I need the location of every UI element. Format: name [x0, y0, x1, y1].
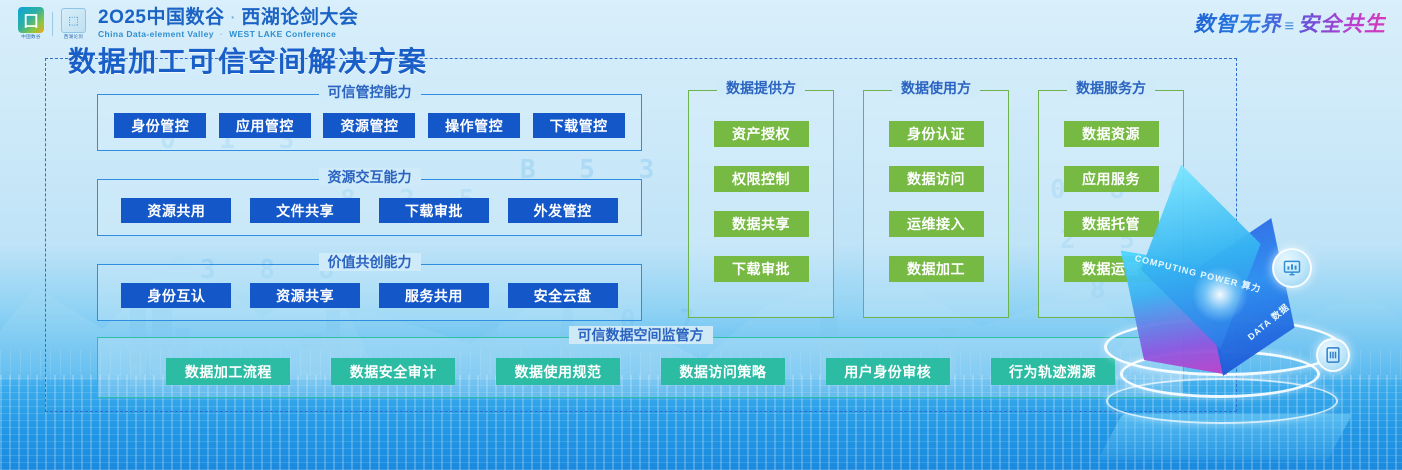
panel-regulator: 可信数据空间监管方 数据加工流程 数据安全审计 数据使用规范 数据访问策略 用户…	[97, 337, 1184, 398]
column-title-data-consumer: 数据使用方	[892, 79, 980, 97]
capability-button[interactable]: 外发管控	[508, 198, 618, 223]
panel-row-value-cocreation: 身份互认 资源共享 服务共用 安全云盘	[98, 283, 641, 308]
capability-button[interactable]: 资源共用	[121, 198, 231, 223]
panel-resource-interaction: 资源交互能力 资源共用 文件共享 下载审批 外发管控	[97, 179, 642, 236]
role-button[interactable]: 数据资源	[1064, 121, 1159, 147]
panel-row-regulator: 数据加工流程 数据安全审计 数据使用规范 数据访问策略 用户身份审核 行为轨迹溯…	[98, 358, 1183, 385]
logo-caption-1: 中国数谷	[21, 34, 41, 40]
capability-button[interactable]: 应用管控	[219, 113, 311, 138]
column-title-data-provider: 数据提供方	[717, 79, 805, 97]
page-title: 数据加工可信空间解决方案	[68, 40, 428, 80]
regulator-button[interactable]: 数据加工流程	[166, 358, 290, 385]
cube-label-data-en: DATA	[1246, 317, 1273, 342]
regulator-button[interactable]: 数据安全审计	[331, 358, 455, 385]
cube-label-data-cn: 数据	[1269, 302, 1291, 323]
capability-button[interactable]: 资源共享	[250, 283, 360, 308]
server-rack-icon	[1316, 338, 1350, 372]
role-button[interactable]: 下载审批	[714, 256, 809, 282]
header-subtitle-dot: ·	[220, 29, 223, 39]
column-data-consumer: 数据使用方 身份认证 数据访问 运维接入 数据加工	[863, 90, 1009, 318]
role-button[interactable]: 数据访问	[889, 166, 984, 192]
panel-title-regulator: 可信数据空间监管方	[569, 326, 713, 344]
logo-data-valley: 囗 中国数谷	[18, 7, 44, 40]
capability-button[interactable]: 服务共用	[379, 283, 489, 308]
analytics-chart-icon	[1272, 248, 1312, 288]
panel-row-trusted-control: 身份管控 应用管控 资源管控 操作管控 下载管控	[98, 113, 641, 138]
capability-button[interactable]: 身份互认	[121, 283, 231, 308]
capability-button[interactable]: 文件共享	[250, 198, 360, 223]
role-button[interactable]: 身份认证	[889, 121, 984, 147]
header-titles: 2O25中国数谷·西湖论剑大会 China Data-element Valle…	[98, 7, 358, 40]
cube-label-data: DATA 数据	[1245, 300, 1292, 343]
logo-west-lake: ⬚ 西湖论剑	[61, 8, 86, 40]
west-lake-mark-icon: ⬚	[61, 8, 86, 33]
header-title-dot: ·	[230, 7, 237, 28]
capability-button[interactable]: 操作管控	[428, 113, 520, 138]
regulator-button[interactable]: 行为轨迹溯源	[991, 358, 1115, 385]
panel-title-value-cocreation: 价值共创能力	[319, 253, 421, 271]
header-title-a: 中国数谷	[146, 7, 224, 28]
page-header: 囗 中国数谷 ⬚ 西湖论剑 2O25中国数谷·西湖论剑大会 China Data…	[0, 0, 1402, 42]
role-button[interactable]: 数据托管	[1064, 211, 1159, 237]
capability-button[interactable]: 安全云盘	[508, 283, 618, 308]
capability-button[interactable]: 身份管控	[114, 113, 206, 138]
header-subtitle: China Data-element Valley·WEST LAKE Conf…	[98, 28, 358, 40]
panel-row-resource-interaction: 资源共用 文件共享 下载审批 外发管控	[98, 198, 641, 223]
panel-trusted-control: 可信管控能力 身份管控 应用管控 资源管控 操作管控 下载管控	[97, 94, 642, 151]
column-data-provider: 数据提供方 资产授权 权限控制 数据共享 下载审批	[688, 90, 834, 318]
header-subtitle-b: WEST LAKE Conference	[229, 29, 336, 39]
header-year: 2O25	[98, 7, 146, 28]
column-data-service: 数据服务方 数据资源 应用服务 数据托管 数据运营	[1038, 90, 1184, 318]
data-valley-mark-icon: 囗	[18, 7, 44, 33]
panel-value-cocreation: 价值共创能力 身份互认 资源共享 服务共用 安全云盘	[97, 264, 642, 321]
capability-button[interactable]: 下载管控	[533, 113, 625, 138]
column-stack-data-service: 数据资源 应用服务 数据托管 数据运营	[1039, 121, 1183, 282]
role-button[interactable]: 应用服务	[1064, 166, 1159, 192]
capability-button[interactable]: 下载审批	[379, 198, 489, 223]
panel-title-trusted-control: 可信管控能力	[319, 83, 421, 101]
role-button[interactable]: 资产授权	[714, 121, 809, 147]
logo-caption-2: 西湖论剑	[64, 34, 84, 40]
conference-slogan: 数智无界≡安全共生	[1194, 8, 1386, 38]
cube-label-power-cn: 算力	[1240, 280, 1262, 295]
role-button[interactable]: 数据共享	[714, 211, 809, 237]
header-subtitle-a: China Data-element Valley	[98, 29, 214, 39]
cube-base-plate	[1098, 414, 1352, 460]
regulator-button[interactable]: 数据使用规范	[496, 358, 620, 385]
header-title-main: 2O25中国数谷·西湖论剑大会	[98, 7, 358, 28]
column-title-data-service: 数据服务方	[1067, 79, 1155, 97]
capability-button[interactable]: 资源管控	[323, 113, 415, 138]
regulator-button[interactable]: 数据访问策略	[661, 358, 785, 385]
regulator-button[interactable]: 用户身份审核	[826, 358, 950, 385]
header-title-b: 西湖论剑大会	[241, 7, 358, 28]
column-stack-data-consumer: 身份认证 数据访问 运维接入 数据加工	[864, 121, 1008, 282]
slogan-part-a: 数智无界	[1194, 13, 1282, 36]
role-button[interactable]: 数据加工	[889, 256, 984, 282]
role-button[interactable]: 权限控制	[714, 166, 809, 192]
role-button[interactable]: 运维接入	[889, 211, 984, 237]
conference-logo: 囗 中国数谷 ⬚ 西湖论剑 2O25中国数谷·西湖论剑大会 China Data…	[18, 7, 358, 40]
slogan-separator-icon: ≡	[1285, 18, 1295, 35]
column-stack-data-provider: 资产授权 权限控制 数据共享 下载审批	[689, 121, 833, 282]
slogan-part-b: 安全共生	[1298, 13, 1386, 36]
panel-title-resource-interaction: 资源交互能力	[319, 168, 421, 186]
role-button[interactable]: 数据运营	[1064, 256, 1159, 282]
logo-divider	[52, 12, 53, 36]
